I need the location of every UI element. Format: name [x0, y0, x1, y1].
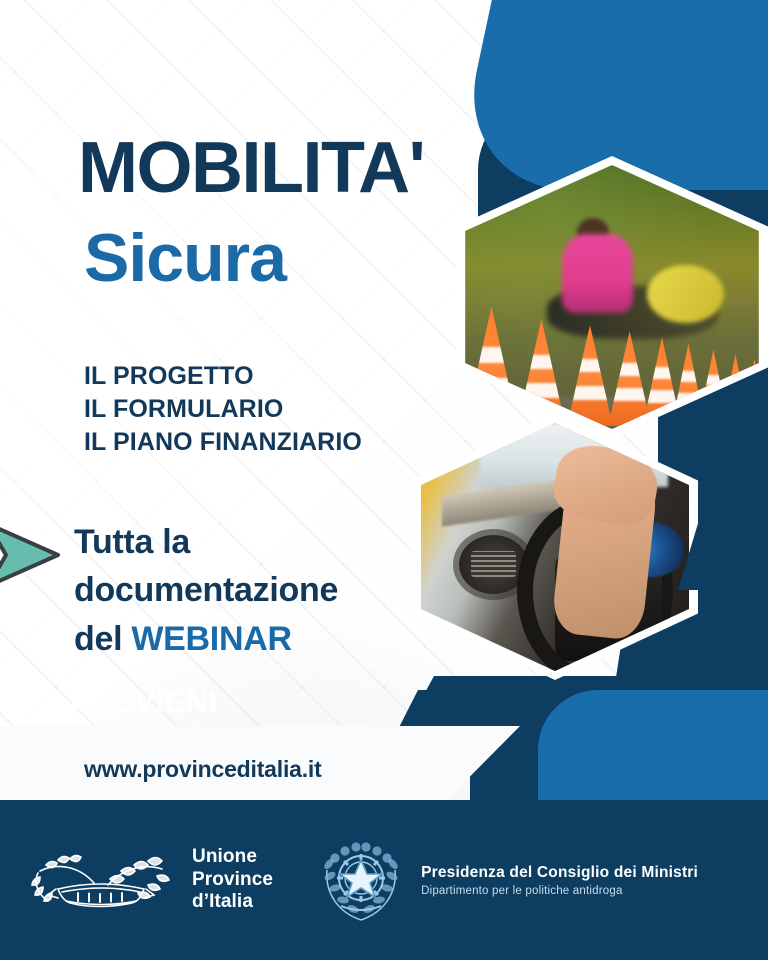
logo-presidenza-consiglio-ministri[interactable]: Presidenza del Consiglio dei Ministri Di…	[315, 834, 698, 926]
website-url[interactable]: www.provinceditalia.it	[84, 756, 322, 783]
bullet-item-formulario: IL FORMULARIO	[84, 393, 362, 426]
cta-line-3: del WEBINAR	[74, 615, 434, 663]
italian-republic-star-emblem	[315, 834, 407, 926]
bullet-item-progetto: IL PROGETTO	[84, 360, 362, 393]
pcm-wordmark: Presidenza del Consiglio dei Ministri Di…	[421, 864, 698, 897]
play-arrow-icon	[0, 518, 62, 592]
upi-line-2: Province	[192, 869, 273, 891]
footer-bar: Unione Province d’Italia	[0, 800, 768, 960]
bullet-list: IL PROGETTO IL FORMULARIO IL PIANO FINAN…	[84, 360, 362, 459]
upi-line-3: d’Italia	[192, 891, 273, 913]
bullet-item-piano-finanziario: IL PIANO FINANZIARIO	[84, 426, 362, 459]
page-title-secondary: Sicura	[84, 224, 286, 292]
pcm-title: Presidenza del Consiglio dei Ministri	[421, 864, 698, 882]
cta-highlight-webinar: WEBINAR	[131, 620, 291, 658]
upi-wordmark: Unione Province d’Italia	[192, 846, 273, 913]
upi-line-1: Unione	[192, 846, 273, 868]
cta-line-3-prefix: del	[74, 620, 131, 658]
cta-text-block: Tutta la documentazione del WEBINAR	[74, 518, 434, 663]
page-title-primary: MOBILITA'	[78, 132, 424, 204]
pcm-subtitle: Dipartimento per le politiche antidroga	[421, 885, 698, 897]
cta-line-2: documentazione	[74, 566, 434, 614]
logo-unione-province-italia[interactable]: Unione Province d’Italia	[26, 843, 273, 917]
cta-line-1: Tutta la	[74, 518, 434, 566]
watermark-previeni: PREVIENI	[70, 686, 218, 720]
wheat-wreath-emblem	[26, 843, 176, 917]
poster-canvas: MOBILITA' Sicura IL PROGETTO IL FORMULAR…	[0, 0, 768, 960]
